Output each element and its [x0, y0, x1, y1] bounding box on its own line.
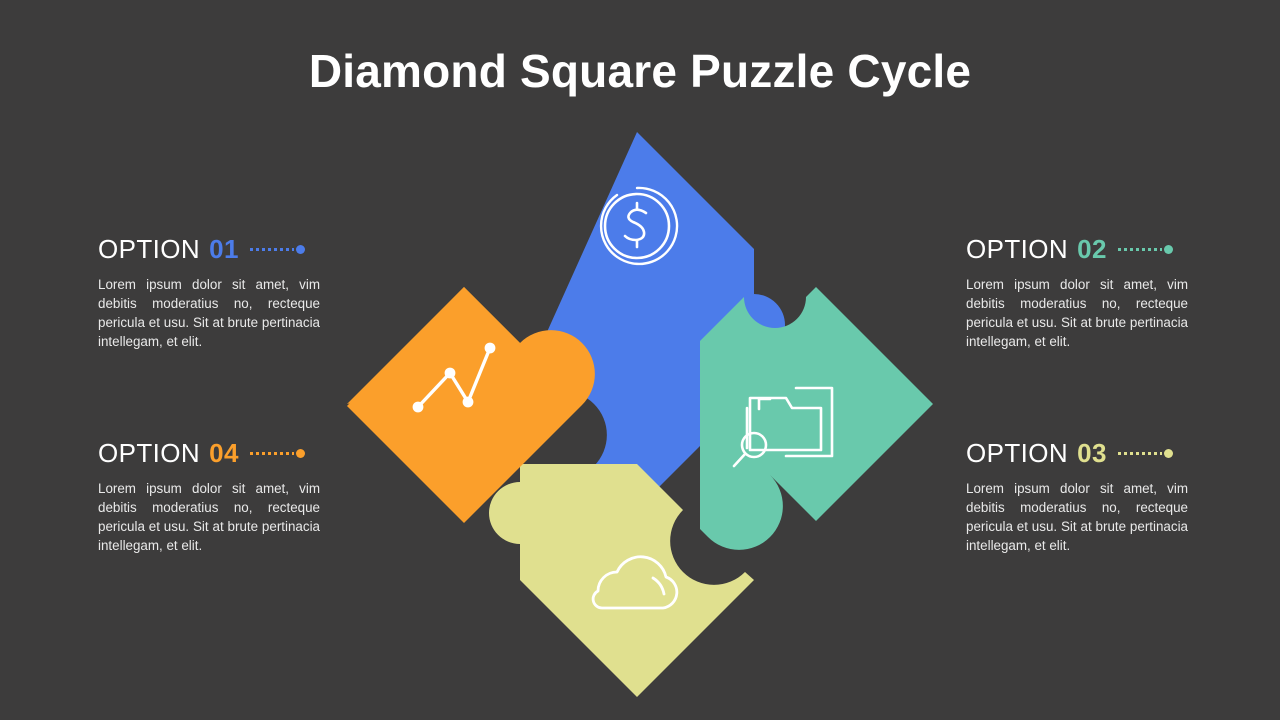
option-03-description: Lorem ipsum dolor sit amet, vim debitis …	[966, 479, 1188, 555]
option-03-word: OPTION	[966, 438, 1068, 469]
dotted-line-icon	[250, 248, 294, 251]
option-04-description: Lorem ipsum dolor sit amet, vim debitis …	[98, 479, 320, 555]
option-03-header: OPTION 03	[966, 436, 1188, 470]
option-03-number: 03	[1077, 438, 1107, 469]
option-02-connector	[1118, 245, 1173, 254]
endpoint-dot-icon	[296, 449, 305, 458]
dotted-line-icon	[250, 452, 294, 455]
endpoint-dot-icon	[296, 245, 305, 254]
option-block-03[interactable]: OPTION 03 Lorem ipsum dolor sit amet, vi…	[966, 436, 1188, 555]
option-block-02[interactable]: OPTION 02 Lorem ipsum dolor sit amet, vi…	[966, 232, 1188, 351]
option-04-connector	[250, 449, 305, 458]
option-01-number: 01	[209, 234, 239, 265]
option-01-header: OPTION 01	[98, 232, 320, 266]
puzzle-diagram	[340, 118, 940, 710]
option-04-word: OPTION	[98, 438, 200, 469]
option-04-header: OPTION 04	[98, 436, 320, 470]
option-01-word: OPTION	[98, 234, 200, 265]
option-02-word: OPTION	[966, 234, 1068, 265]
puzzle-piece-right-green[interactable]	[700, 287, 933, 550]
dotted-line-icon	[1118, 248, 1162, 251]
page-title: Diamond Square Puzzle Cycle	[0, 44, 1280, 98]
dotted-line-icon	[1118, 452, 1162, 455]
option-01-connector	[250, 245, 305, 254]
option-04-number: 04	[209, 438, 239, 469]
piece-right-green-shape[interactable]	[700, 287, 933, 550]
endpoint-dot-icon	[1164, 245, 1173, 254]
option-block-04[interactable]: OPTION 04 Lorem ipsum dolor sit amet, vi…	[98, 436, 320, 555]
option-block-01[interactable]: OPTION 01 Lorem ipsum dolor sit amet, vi…	[98, 232, 320, 351]
option-01-description: Lorem ipsum dolor sit amet, vim debitis …	[98, 275, 320, 351]
option-02-number: 02	[1077, 234, 1107, 265]
option-02-header: OPTION 02	[966, 232, 1188, 266]
option-03-connector	[1118, 449, 1173, 458]
option-02-description: Lorem ipsum dolor sit amet, vim debitis …	[966, 275, 1188, 351]
endpoint-dot-icon	[1164, 449, 1173, 458]
